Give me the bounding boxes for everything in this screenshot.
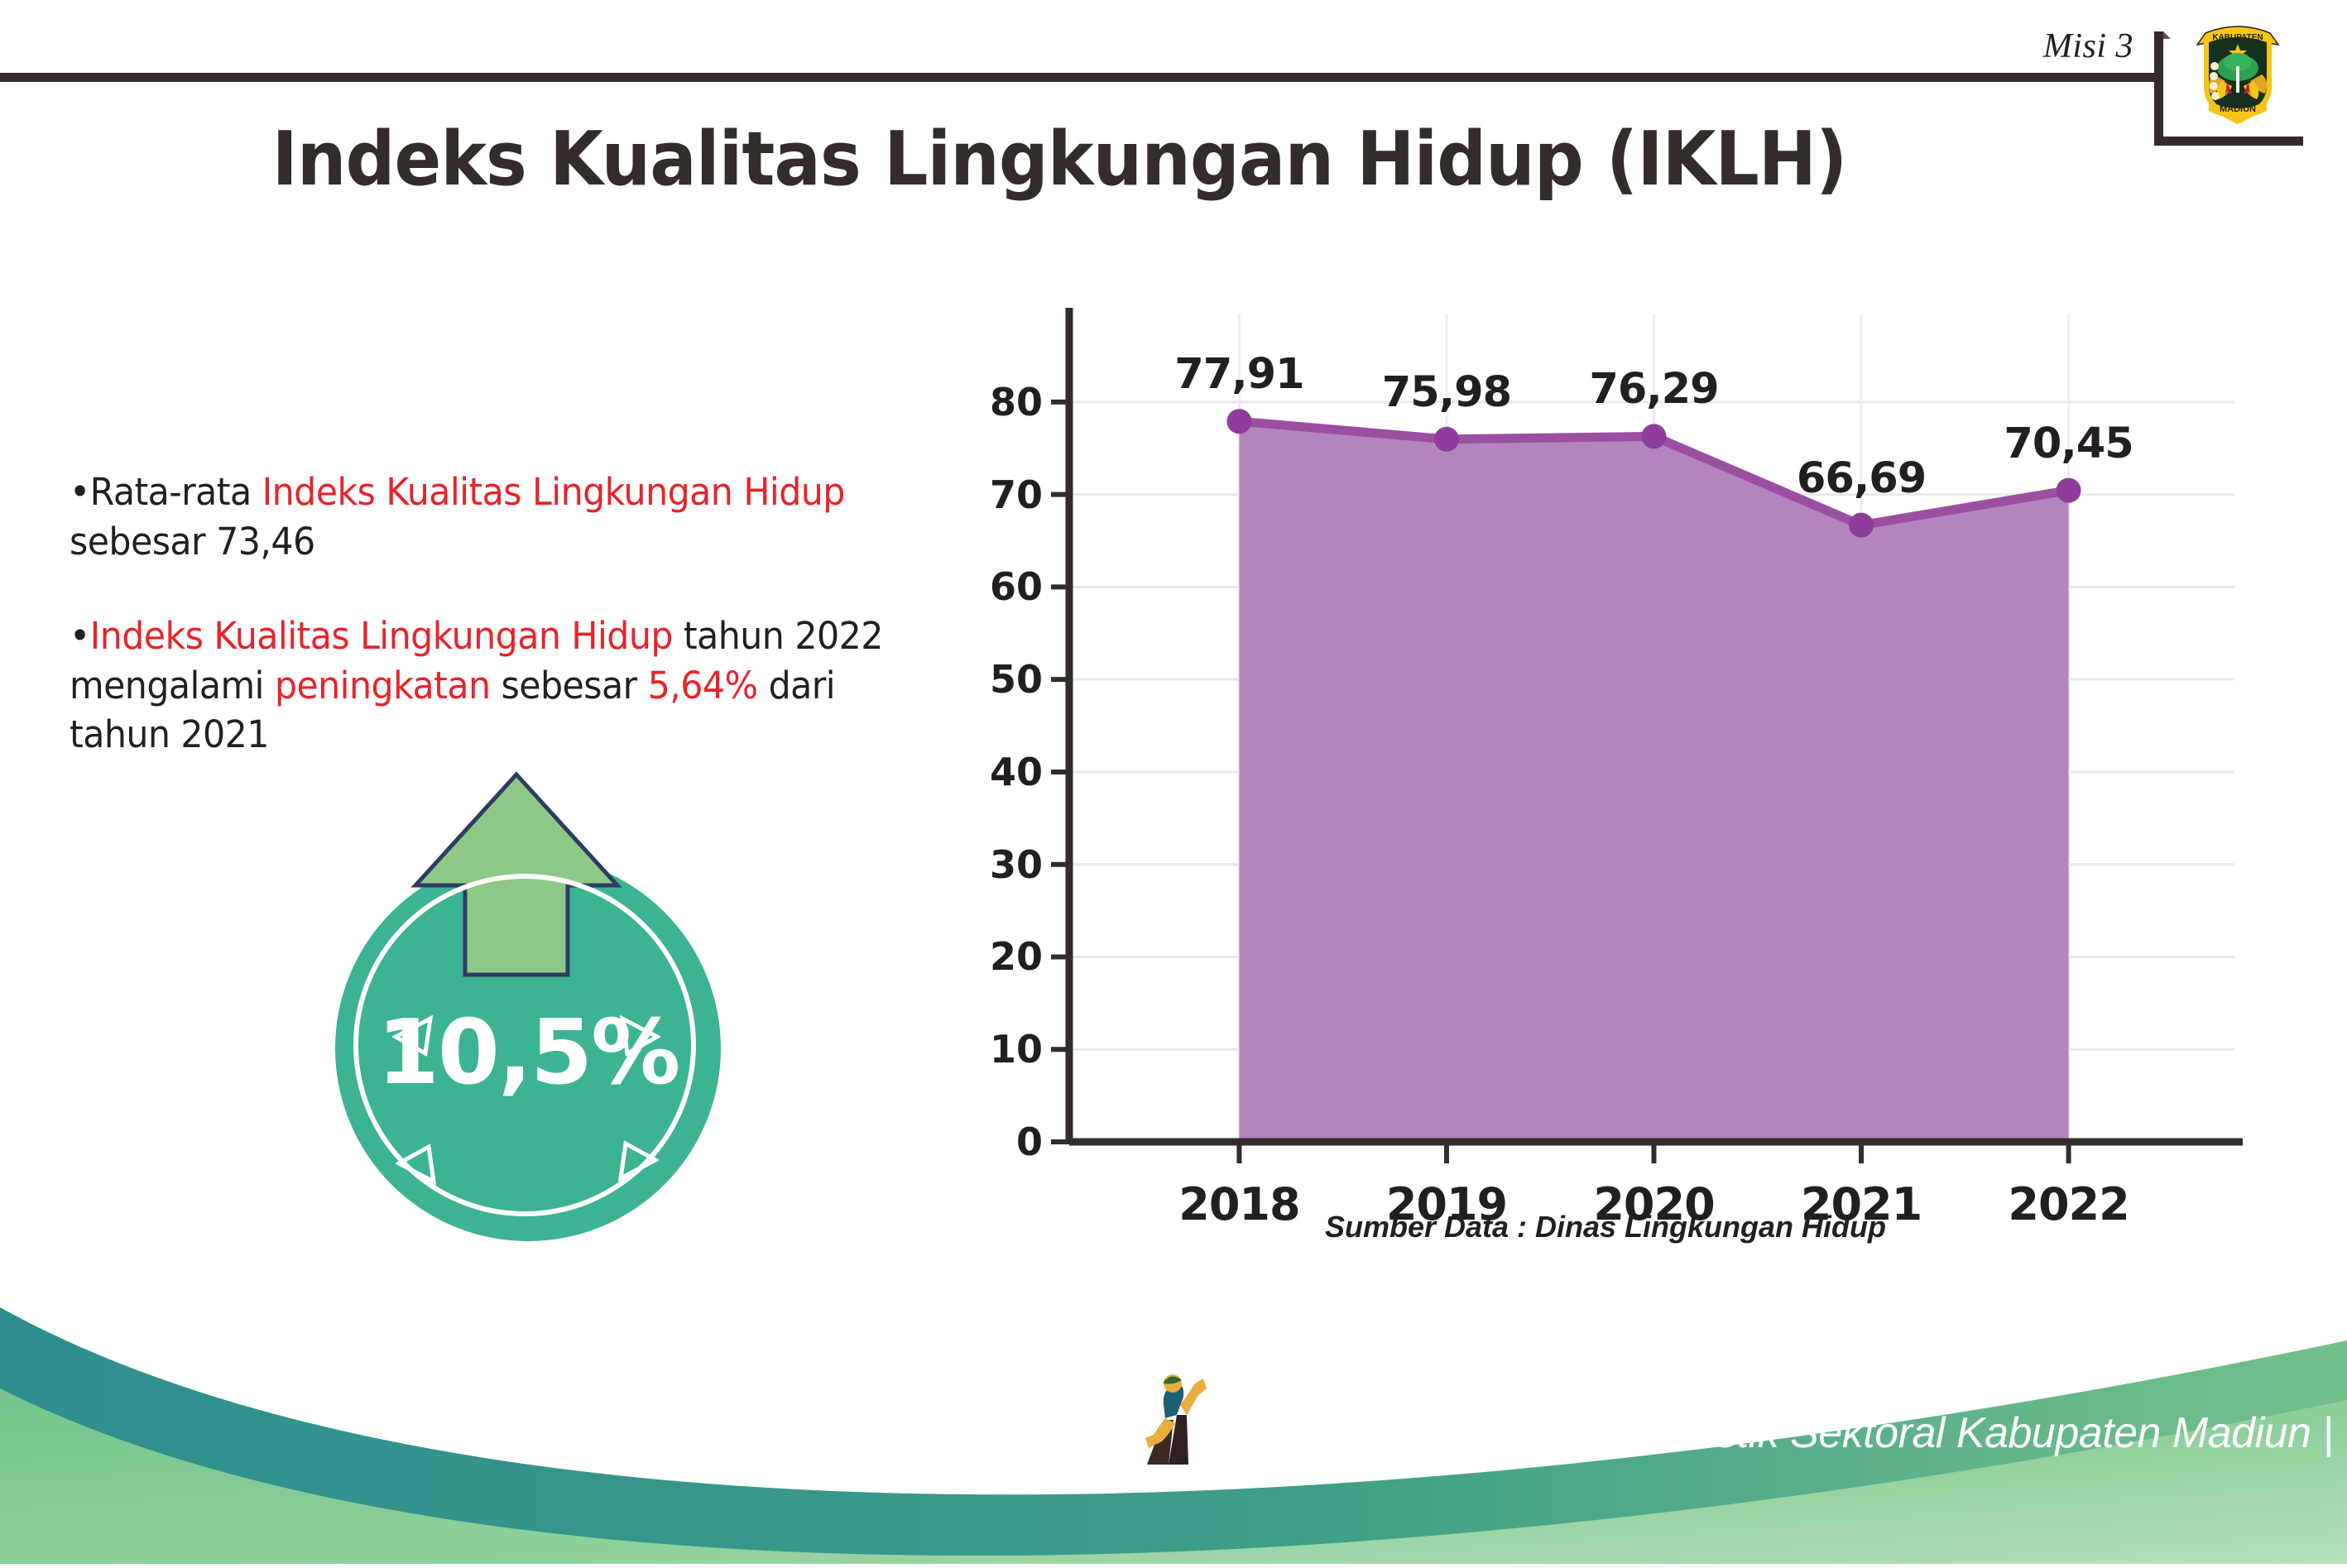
header-rule (0, 73, 2158, 82)
chart-y-label: 10 (943, 1027, 1043, 1072)
chart-value-label-2021: 66,69 (1754, 454, 1969, 503)
badge-triangle-bottom-left-icon (396, 1144, 439, 1187)
chart-y-label: 50 (943, 657, 1043, 702)
bullet-1-segment-4: sebesar (490, 664, 647, 707)
chart-value-label-2018: 77,91 (1131, 350, 1346, 399)
bullet-1-segment-1: Indeks Kualitas Lingkungan Hidup (90, 614, 673, 658)
badge-triangle-top-left-icon (392, 1014, 435, 1057)
chart-value-label-2020: 76,29 (1547, 365, 1762, 414)
logo-top-text: KABUPATEN (2212, 33, 2263, 42)
chart-y-label: 40 (943, 750, 1043, 794)
kabupaten-madiun-logo-icon: MADIUN KABUPATEN (2189, 15, 2287, 131)
logo-bottom-text: MADIUN (2220, 104, 2256, 114)
bullet-0-segment-2: sebesar 73,46 (70, 520, 315, 563)
chart-y-label: 0 (943, 1120, 1043, 1164)
chart-y-label: 70 (943, 472, 1043, 517)
media-infografis-logo-icon (1140, 1372, 1217, 1479)
chart-y-label: 30 (943, 842, 1043, 887)
footer-text: Media Infografis Data Statistik Sektoral… (1220, 1408, 2333, 1458)
bullet-1-segment-3: peningkatan (275, 664, 491, 707)
chart-value-label-2019: 75,98 (1339, 368, 1554, 417)
bullet-0-segment-1: Indeks Kualitas Lingkungan Hidup (262, 470, 845, 514)
bullet-1-segment-5: 5,64% (648, 664, 758, 707)
page-title: Indeks Kualitas Lingkungan Hidup (IKLH) (74, 116, 2045, 203)
chart-area-series (1239, 421, 2068, 1142)
badge-triangle-top-right-icon (617, 1014, 660, 1057)
bullet-1-segment-0: • (70, 614, 90, 658)
bullet-item-0: •Rata-rata Indeks Kualitas Lingkungan Hi… (70, 468, 919, 567)
chart-y-label: 60 (943, 564, 1043, 609)
badge-triangle-bottom-right-icon (616, 1140, 659, 1183)
bullet-list: •Rata-rata Indeks Kualitas Lingkungan Hi… (70, 468, 963, 804)
logo-bracket-vertical (2154, 31, 2163, 146)
chart-source-note: Sumber Data : Dinas Lingkungan Hidup (943, 1210, 2268, 1244)
chart-y-label: 80 (943, 380, 1043, 424)
bullet-0-segment-0: •Rata-rata (70, 470, 262, 514)
logo-bracket-horizontal (2154, 137, 2303, 146)
misi-label: Misi 3 (2043, 26, 2133, 66)
chart-y-label: 20 (943, 934, 1043, 979)
chart-value-label-2022: 70,45 (1961, 420, 2177, 468)
iklh-area-chart: 01020304050607080 20182019202020212022 7… (943, 298, 2268, 1258)
bullet-item-1: •Indeks Kualitas Lingkungan Hidup tahun … (70, 611, 919, 760)
increase-badge: 10,5% (321, 770, 735, 1192)
